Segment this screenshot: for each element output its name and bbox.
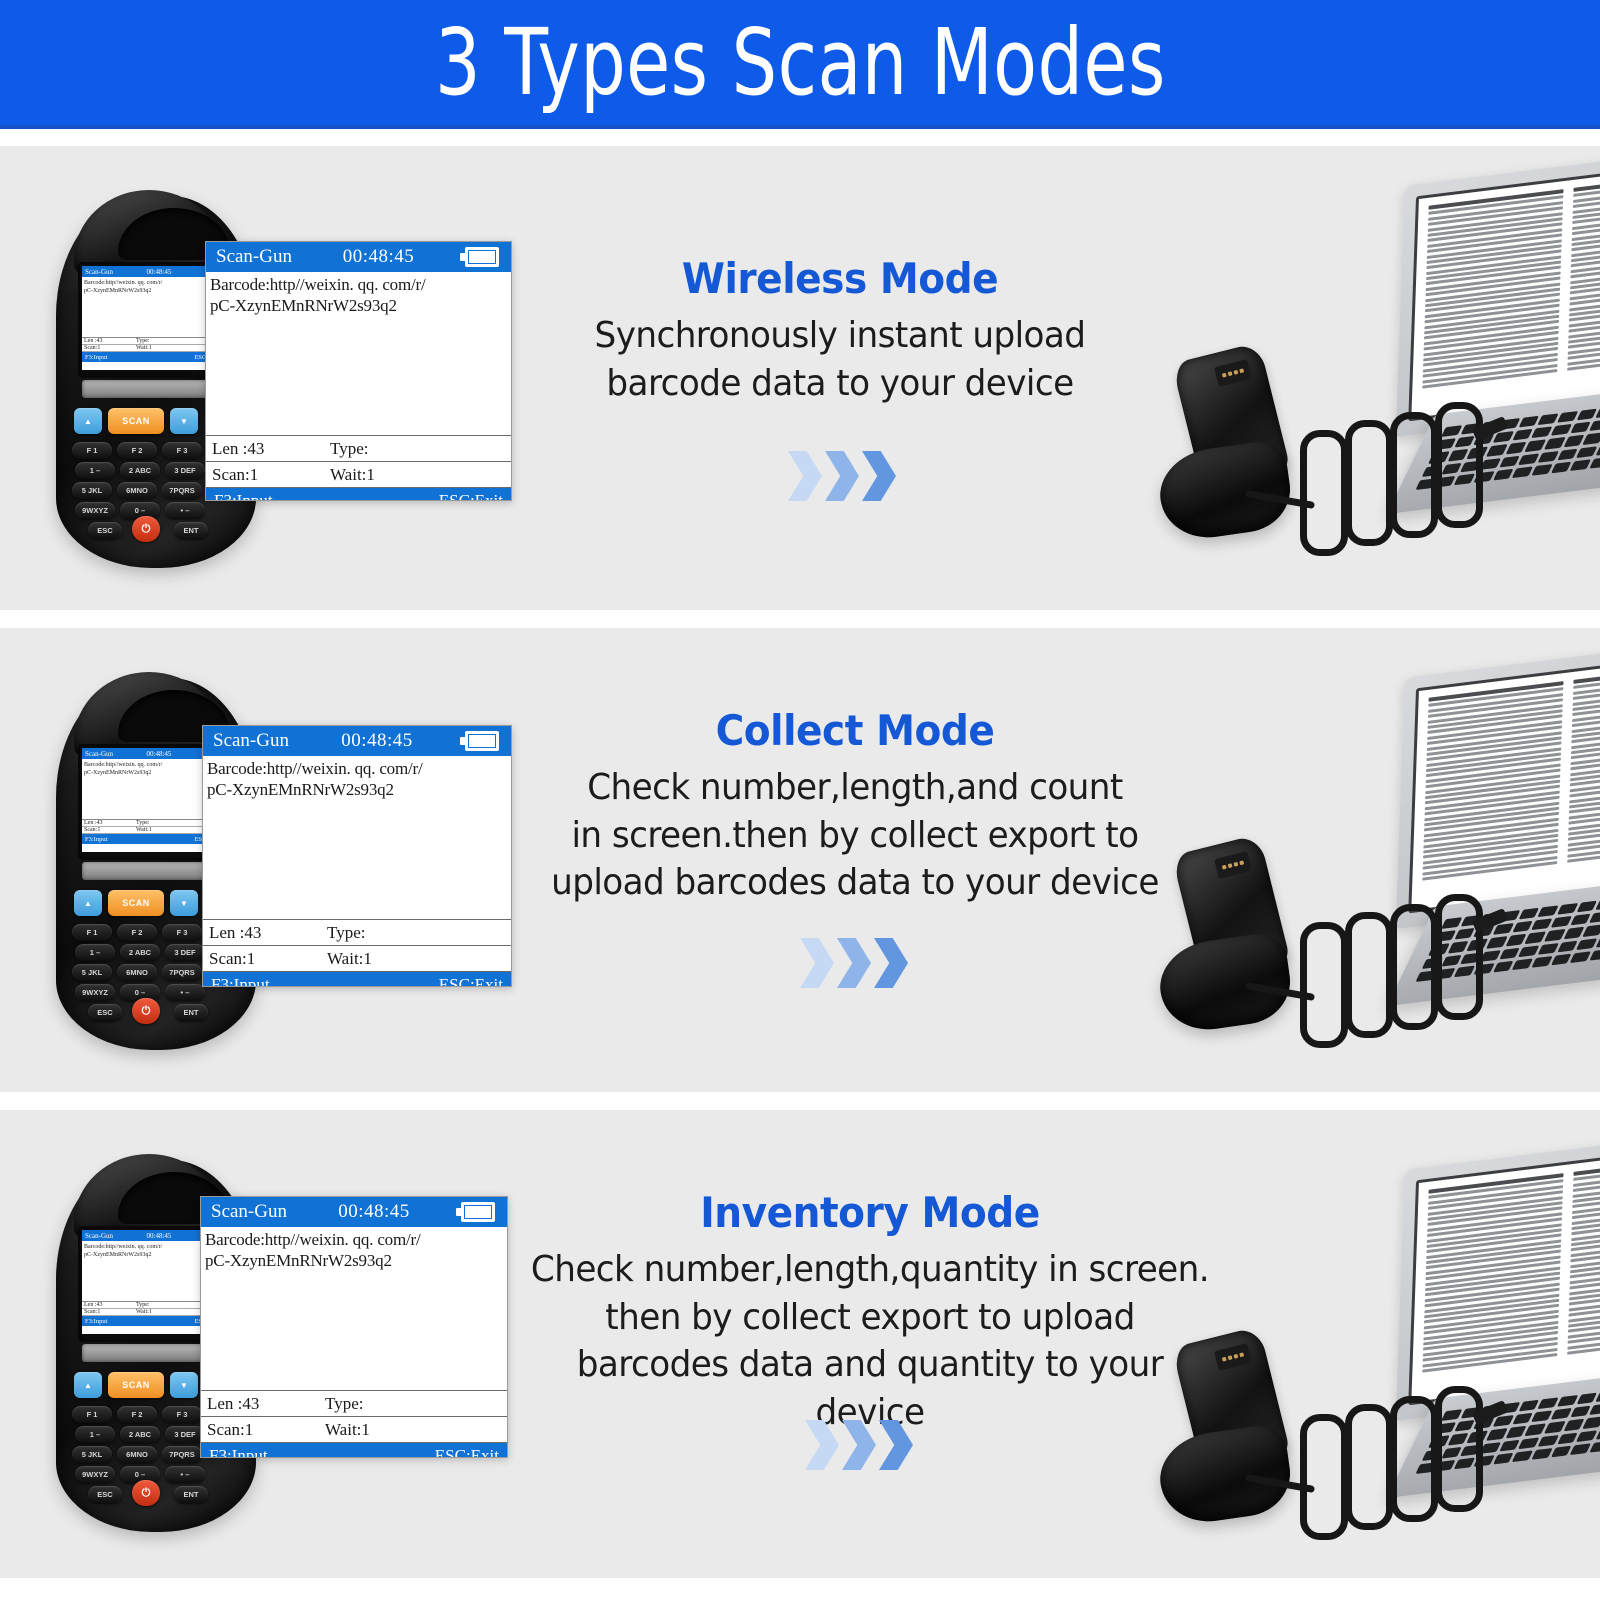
laptop-key xyxy=(1525,440,1546,452)
laptop-key xyxy=(1551,1445,1572,1457)
barcode-line-2: pC-XzynEMnRNrW2s93q2 xyxy=(207,780,507,801)
laptop-lid xyxy=(1396,637,1600,929)
screen-stats: Len :43Type: Scan:1Wait:1 xyxy=(203,919,511,972)
keypad-key[interactable]: 6MNO xyxy=(117,964,157,981)
laptop-data-column xyxy=(1422,1173,1564,1393)
screen-stats: Len :43Type: Scan:1Wait:1 xyxy=(206,435,511,488)
keypad-key[interactable]: 9WXYZ xyxy=(75,1466,115,1483)
stat-type: Type: xyxy=(325,1394,363,1414)
mini-barcode-line-2: pC-XzynEMnRNrW2s93q2 xyxy=(84,769,220,777)
usb-cable xyxy=(1245,1400,1515,1540)
mode-description: Synchronously instant uploadbarcode data… xyxy=(574,312,1106,407)
laptop-lid xyxy=(1396,146,1600,437)
mini-screen-stats: Len :43Type: Scan:1Wait:1 xyxy=(82,337,222,352)
laptop-data-column xyxy=(1422,189,1564,409)
laptop-key xyxy=(1563,435,1584,447)
laptop-key xyxy=(1544,929,1565,941)
up-arrow-key[interactable]: ▲ xyxy=(74,408,102,434)
stat-type: Type: xyxy=(330,439,368,459)
keypad-key[interactable]: 3 DEF xyxy=(165,462,205,479)
keypad-key[interactable]: F 3 xyxy=(162,442,202,459)
chevron-right-icon xyxy=(874,938,908,988)
cable-coil xyxy=(1435,402,1483,528)
keypad-key[interactable]: 7PQRS xyxy=(162,1446,202,1463)
laptop-key xyxy=(1576,901,1597,913)
laptop-key xyxy=(1596,935,1600,947)
laptop-key xyxy=(1557,1432,1578,1444)
enter-key[interactable]: ENT xyxy=(174,522,208,539)
keypad-key[interactable]: F 3 xyxy=(162,1406,202,1423)
keypad-key[interactable]: 2 ABC xyxy=(120,462,160,479)
mini-screen-stats: Len :43Type: Scan:1Wait:1 xyxy=(82,819,222,834)
laptop-key xyxy=(1583,1417,1600,1429)
cradle-and-laptop xyxy=(1150,166,1600,586)
laptop-key xyxy=(1589,911,1600,923)
speaker-grille xyxy=(82,380,222,398)
screen-title: Scan-Gun xyxy=(213,730,289,752)
cable-coil xyxy=(1435,894,1483,1020)
laptop-key xyxy=(1550,424,1571,436)
mode-description-line: Check number,length,quantity in screen. xyxy=(519,1246,1222,1294)
cradle-and-laptop xyxy=(1150,658,1600,1078)
power-key[interactable]: ⏻ xyxy=(132,998,160,1024)
cable-coil xyxy=(1390,904,1438,1030)
laptop-data-column xyxy=(1567,1155,1600,1375)
scan-key[interactable]: SCAN xyxy=(108,408,164,434)
mini-screen-titlebar: Scan-Gun 00:48:45 xyxy=(82,748,222,759)
laptop-key xyxy=(1576,1393,1597,1405)
chevron-right-icon xyxy=(837,938,871,988)
keypad-key[interactable]: 7PQRS xyxy=(162,482,202,499)
chevron-right-icon xyxy=(805,1420,839,1470)
mode-text-block: Inventory Mode Check number,length,quant… xyxy=(500,1190,1240,1436)
mini-stat-row: Len :43Type: xyxy=(82,338,222,345)
screen-footer-bar: F3:Input ESC:Exit xyxy=(201,1443,507,1458)
laptop-key xyxy=(1512,429,1533,441)
laptop-key xyxy=(1531,464,1552,476)
screen-titlebar: Scan-Gun 00:48:45 xyxy=(203,726,511,756)
laptop-key xyxy=(1583,925,1600,937)
mini-screen-barcode: Barcode:http//weixin. qq. com/r/ pC-Xzyn… xyxy=(82,759,222,819)
mini-screen-title: Scan-Gun xyxy=(85,268,113,276)
enter-key[interactable]: ENT xyxy=(174,1486,208,1503)
screen-clock: 00:48:45 xyxy=(292,246,465,268)
mode-description-line: Synchronously instant upload xyxy=(574,312,1106,360)
mode-description: Check number,length,quantity in screen.t… xyxy=(519,1246,1222,1436)
mode-text-block: Collect Mode Check number,length,and cou… xyxy=(530,708,1180,907)
cable-coil xyxy=(1300,1414,1348,1540)
laptop-key xyxy=(1538,905,1559,917)
scanner-screen-overlay: Scan-Gun 00:48:45 Barcode:http//weixin. … xyxy=(205,241,512,501)
keypad-key[interactable]: 1 – xyxy=(75,462,115,479)
mode-description-line: then by collect export to upload xyxy=(519,1294,1222,1342)
laptop-key xyxy=(1596,443,1600,455)
mini-screen-footer: F3:Input ESC:Exit xyxy=(82,834,222,844)
cable-coil xyxy=(1390,412,1438,538)
laptop-key xyxy=(1538,413,1559,425)
mini-stat-row: Len :43Type: xyxy=(82,820,222,827)
stat-row-length: Len :43Type: xyxy=(206,436,511,462)
section-inventory-mode: Scan-Gun 00:48:45 Barcode:http//weixin. … xyxy=(0,1110,1600,1578)
laptop-key xyxy=(1589,949,1600,961)
keypad-key[interactable]: 9WXYZ xyxy=(75,502,115,519)
barcode-line-2: pC-XzynEMnRNrW2s93q2 xyxy=(205,1251,503,1272)
header-divider xyxy=(0,125,1600,129)
mini-screen-title: Scan-Gun xyxy=(85,750,113,758)
escape-key[interactable]: ESC xyxy=(88,1486,122,1503)
stat-row-scan: Scan:1Wait:1 xyxy=(203,946,511,972)
laptop-key xyxy=(1576,938,1597,950)
laptop-key xyxy=(1531,1448,1552,1460)
barcode-line-1: Barcode:http//weixin. qq. com/r/ xyxy=(207,759,507,780)
device-mini-screen: Scan-Gun 00:48:45 Barcode:http//weixin. … xyxy=(82,748,222,852)
laptop-key xyxy=(1531,956,1552,968)
screen-barcode-content: Barcode:http//weixin. qq. com/r/ pC-Xzyn… xyxy=(206,272,511,435)
mode-title: Collect Mode xyxy=(553,708,1158,754)
laptop-key xyxy=(1538,1397,1559,1409)
keypad-key[interactable]: 5 JKL xyxy=(72,964,112,981)
power-key[interactable]: ⏻ xyxy=(132,516,160,542)
keypad-key[interactable]: 6MNO xyxy=(117,1446,157,1463)
chevron-right-icon xyxy=(825,451,859,501)
screen-clock: 00:48:45 xyxy=(289,730,465,752)
mode-description-line: Check number,length,and count xyxy=(546,764,1164,812)
laptop-data-column xyxy=(1567,663,1600,883)
screen-title: Scan-Gun xyxy=(216,246,292,268)
flow-arrows xyxy=(800,938,908,988)
laptop-key xyxy=(1512,921,1533,933)
laptop-key xyxy=(1589,1441,1600,1453)
laptop-key xyxy=(1589,419,1600,431)
escape-key[interactable]: ESC xyxy=(88,522,122,539)
mini-screen-titlebar: Scan-Gun 00:48:45 xyxy=(82,266,222,277)
keypad-key[interactable]: F 3 xyxy=(162,924,202,941)
footer-input-hint: F3:Input xyxy=(211,975,270,987)
laptop-key xyxy=(1518,416,1539,428)
laptop-key xyxy=(1518,1400,1539,1412)
mini-screen-time: 00:48:45 xyxy=(119,268,199,276)
mini-screen-time: 00:48:45 xyxy=(119,1232,199,1240)
keypad-key[interactable]: 5 JKL xyxy=(72,482,112,499)
keypad-key[interactable]: • – xyxy=(165,502,205,519)
screen-titlebar: Scan-Gun 00:48:45 xyxy=(206,242,511,272)
laptop-key xyxy=(1531,919,1552,931)
stat-len: Len :43 xyxy=(212,439,330,459)
stat-scan: Scan:1 xyxy=(212,465,330,485)
laptop-key xyxy=(1583,433,1600,445)
keypad-key[interactable]: • – xyxy=(165,984,205,1001)
laptop-key xyxy=(1538,451,1559,463)
power-key[interactable]: ⏻ xyxy=(132,1480,160,1506)
section-collect-mode: Scan-Gun 00:48:45 Barcode:http//weixin. … xyxy=(0,628,1600,1092)
keypad-key[interactable]: 5 JKL xyxy=(72,1446,112,1463)
scanner-screen-overlay: Scan-Gun 00:48:45 Barcode:http//weixin. … xyxy=(202,725,512,987)
laptop-key xyxy=(1570,1406,1591,1418)
laptop-data-line xyxy=(1573,171,1600,192)
stat-row-scan: Scan:1Wait:1 xyxy=(201,1417,507,1443)
keypad-key[interactable]: F 2 xyxy=(117,442,157,459)
stat-len: Len :43 xyxy=(207,1394,325,1414)
footer-exit-hint: ESC:Exit xyxy=(435,1446,499,1458)
keypad-key[interactable]: F 2 xyxy=(117,924,157,941)
laptop-key xyxy=(1551,461,1572,473)
speaker-grille xyxy=(82,862,222,880)
footer-exit-hint: ESC:Exit xyxy=(439,975,503,987)
footer-input-hint: F3:Input xyxy=(214,491,273,501)
cable-coil xyxy=(1390,1396,1438,1522)
cable-coil xyxy=(1345,1404,1393,1530)
header-banner: 3 Types Scan Modes xyxy=(0,0,1600,125)
laptop-key xyxy=(1589,457,1600,469)
screen-footer-bar: F3:Input ESC:Exit xyxy=(206,488,511,501)
laptop-key xyxy=(1557,940,1578,952)
keypad-key[interactable]: F 1 xyxy=(72,1406,112,1423)
mini-screen-barcode: Barcode:http//weixin. qq. com/r/ pC-Xzyn… xyxy=(82,277,222,337)
cradle-and-laptop xyxy=(1150,1150,1600,1570)
laptop-key xyxy=(1563,927,1584,939)
keypad-key[interactable]: 2 ABC xyxy=(120,1426,160,1443)
up-arrow-key[interactable]: ▲ xyxy=(74,890,102,916)
up-arrow-key[interactable]: ▲ xyxy=(74,1372,102,1398)
down-arrow-key[interactable]: ▼ xyxy=(170,1372,198,1398)
laptop-data-column xyxy=(1567,171,1600,391)
stat-wait: Wait:1 xyxy=(327,949,372,969)
keypad-key[interactable]: F 1 xyxy=(72,924,112,941)
laptop-key xyxy=(1518,1437,1539,1449)
laptop-key xyxy=(1512,1413,1533,1425)
stat-scan: Scan:1 xyxy=(207,1420,325,1440)
screen-clock: 00:48:45 xyxy=(287,1201,461,1223)
mode-text-block: Wireless Mode Synchronously instant uplo… xyxy=(560,256,1120,407)
mode-title: Wireless Mode xyxy=(580,256,1101,302)
mini-screen-footer: F3:Input ESC:Exit xyxy=(82,352,222,362)
keypad-key[interactable]: 1 – xyxy=(75,944,115,961)
stat-row-length: Len :43Type: xyxy=(201,1391,507,1417)
laptop-key xyxy=(1544,1421,1565,1433)
screen-footer-bar: F3:Input ESC:Exit xyxy=(203,972,511,987)
mode-title: Inventory Mode xyxy=(526,1190,1214,1236)
keypad-key[interactable]: 3 DEF xyxy=(165,944,205,961)
laptop-key xyxy=(1576,446,1597,458)
cable-coil xyxy=(1345,912,1393,1038)
stat-row-scan: Scan:1Wait:1 xyxy=(206,462,511,488)
keypad-key[interactable]: 6MNO xyxy=(117,482,157,499)
stat-len: Len :43 xyxy=(209,923,327,943)
laptop-screen xyxy=(1408,1143,1600,1406)
footer-exit-hint: ESC:Exit xyxy=(439,491,503,501)
laptop-key xyxy=(1551,953,1572,965)
cable-coil xyxy=(1300,922,1348,1048)
flow-arrows xyxy=(805,1420,913,1470)
mini-barcode-line-2: pC-XzynEMnRNrW2s93q2 xyxy=(84,287,220,295)
mini-screen-time: 00:48:45 xyxy=(119,750,199,758)
keypad-key[interactable]: F 2 xyxy=(117,1406,157,1423)
laptop-key xyxy=(1563,1419,1584,1431)
barcode-line-1: Barcode:http//weixin. qq. com/r/ xyxy=(205,1230,503,1251)
laptop-screen xyxy=(1408,651,1600,914)
device-mini-screen: Scan-Gun 00:48:45 Barcode:http//weixin. … xyxy=(82,266,222,370)
stat-wait: Wait:1 xyxy=(325,1420,370,1440)
laptop-key xyxy=(1550,916,1571,928)
laptop-key xyxy=(1570,422,1591,434)
mini-stat-row: Scan:1Wait:1 xyxy=(82,827,222,834)
laptop-key xyxy=(1512,1450,1533,1462)
laptop-key xyxy=(1576,1430,1597,1442)
mini-barcode-line-1: Barcode:http//weixin. qq. com/r/ xyxy=(84,761,220,769)
laptop-key xyxy=(1596,1427,1600,1439)
barcode-line-2: pC-XzynEMnRNrW2s93q2 xyxy=(210,296,507,317)
laptop-key xyxy=(1557,903,1578,915)
laptop-lid xyxy=(1396,1129,1600,1421)
footer-input-hint: F3:Input xyxy=(209,1446,268,1458)
laptop-key xyxy=(1557,448,1578,460)
scan-key[interactable]: SCAN xyxy=(108,1372,164,1398)
laptop-key xyxy=(1589,1403,1600,1415)
laptop-key xyxy=(1538,943,1559,955)
page-title: 3 Types Scan Modes xyxy=(435,17,1166,109)
cable-coil xyxy=(1435,1386,1483,1512)
keypad-key[interactable]: 1 – xyxy=(75,1426,115,1443)
mode-description-line: upload barcodes data to your device xyxy=(546,859,1164,907)
chevron-right-icon xyxy=(879,1420,913,1470)
keypad-key[interactable]: 7PQRS xyxy=(162,964,202,981)
barcode-line-1: Barcode:http//weixin. qq. com/r/ xyxy=(210,275,507,296)
device-screen-bezel: Scan-Gun 00:48:45 Barcode:http//weixin. … xyxy=(78,262,226,378)
flow-arrows xyxy=(788,451,896,501)
laptop-key xyxy=(1570,1443,1591,1455)
keypad-key[interactable]: F 1 xyxy=(72,442,112,459)
laptop-screen xyxy=(1408,159,1600,422)
laptop-key xyxy=(1525,1424,1546,1436)
laptop-data-column xyxy=(1422,681,1564,901)
chevron-right-icon xyxy=(800,938,834,988)
battery-full-icon xyxy=(465,247,499,267)
battery-full-icon xyxy=(465,731,499,751)
mode-description-line: in screen.then by collect export to xyxy=(546,812,1164,860)
laptop-data-line xyxy=(1573,663,1600,684)
battery-full-icon xyxy=(461,1202,495,1222)
usb-cable xyxy=(1245,416,1515,556)
laptop-key xyxy=(1570,951,1591,963)
laptop-key xyxy=(1531,427,1552,439)
laptop-key xyxy=(1570,914,1591,926)
laptop-key xyxy=(1512,466,1533,478)
escape-key[interactable]: ESC xyxy=(88,1004,122,1021)
keypad-key[interactable]: 9WXYZ xyxy=(75,984,115,1001)
scanner-screen-overlay: Scan-Gun 00:48:45 Barcode:http//weixin. … xyxy=(200,1196,508,1458)
section-wireless-mode: Scan-Gun 00:48:45 Barcode:http//weixin. … xyxy=(0,146,1600,610)
screen-barcode-content: Barcode:http//weixin. qq. com/r/ pC-Xzyn… xyxy=(201,1227,507,1390)
screen-stats: Len :43Type: Scan:1Wait:1 xyxy=(201,1390,507,1443)
mini-barcode-line-1: Barcode:http//weixin. qq. com/r/ xyxy=(84,279,220,287)
mini-stat-row: Scan:1Wait:1 xyxy=(82,345,222,352)
screen-barcode-content: Barcode:http//weixin. qq. com/r/ pC-Xzyn… xyxy=(203,756,511,919)
laptop-key xyxy=(1570,459,1591,471)
laptop-key xyxy=(1518,945,1539,957)
laptop-key xyxy=(1518,453,1539,465)
cable-coil xyxy=(1345,420,1393,546)
screen-title: Scan-Gun xyxy=(211,1201,287,1223)
down-arrow-key[interactable]: ▼ xyxy=(170,890,198,916)
mini-screen-title: Scan-Gun xyxy=(85,1232,113,1240)
chevron-right-icon xyxy=(788,451,822,501)
screen-titlebar: Scan-Gun 00:48:45 xyxy=(201,1197,507,1227)
chevron-right-icon xyxy=(862,451,896,501)
down-arrow-key[interactable]: ▼ xyxy=(170,408,198,434)
enter-key[interactable]: ENT xyxy=(174,1004,208,1021)
laptop-key xyxy=(1538,1435,1559,1447)
laptop-key xyxy=(1576,409,1597,421)
laptop-key xyxy=(1512,958,1533,970)
keypad-key[interactable]: 2 ABC xyxy=(120,944,160,961)
cable-coil xyxy=(1300,430,1348,556)
stat-row-length: Len :43Type: xyxy=(203,920,511,946)
mode-description-line: barcode data to your device xyxy=(574,360,1106,408)
keypad-key[interactable]: • – xyxy=(165,1466,205,1483)
laptop-key xyxy=(1531,1411,1552,1423)
stat-type: Type: xyxy=(327,923,365,943)
chevron-right-icon xyxy=(842,1420,876,1470)
laptop-key xyxy=(1557,1395,1578,1407)
laptop-key xyxy=(1544,437,1565,449)
laptop-key xyxy=(1525,932,1546,944)
stat-scan: Scan:1 xyxy=(209,949,327,969)
laptop-key xyxy=(1557,411,1578,423)
laptop-key xyxy=(1550,1408,1571,1420)
laptop-key xyxy=(1518,908,1539,920)
stat-wait: Wait:1 xyxy=(330,465,375,485)
laptop-data-line xyxy=(1573,1155,1600,1176)
mode-description: Check number,length,and countin screen.t… xyxy=(546,764,1164,907)
usb-cable xyxy=(1245,908,1515,1048)
keypad-key[interactable]: 3 DEF xyxy=(165,1426,205,1443)
scan-key[interactable]: SCAN xyxy=(108,890,164,916)
